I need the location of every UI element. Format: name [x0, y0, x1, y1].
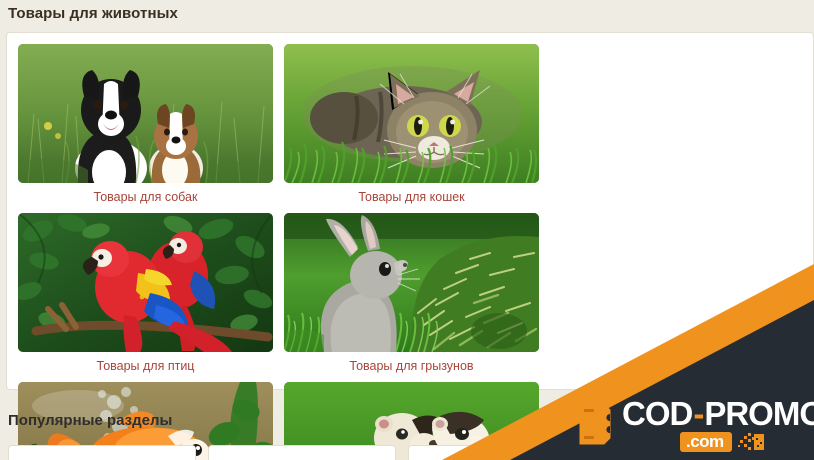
popular-card-3[interactable]	[408, 445, 596, 460]
page-title: Товары для животных	[8, 5, 178, 22]
tile-birds[interactable]: Товары для птиц	[18, 213, 284, 373]
dogs-photo	[18, 44, 273, 183]
tile-label: Товары для кошек	[284, 190, 539, 204]
popular-card-1[interactable]	[8, 445, 196, 460]
animal-categories-panel: Товары для собак	[6, 32, 814, 390]
tile-rodents[interactable]: Товары для грызунов	[284, 213, 550, 373]
tile-label: Товары для птиц	[18, 359, 273, 373]
cat-photo	[284, 44, 539, 183]
popular-sections-title: Популярные разделы	[8, 412, 172, 429]
parrots-photo	[18, 213, 273, 352]
tile-cats[interactable]: Товары для кошек	[284, 44, 550, 204]
tile-label: Товары для грызунов	[284, 359, 539, 373]
tile-dogs[interactable]: Товары для собак	[18, 44, 284, 204]
category-grid: Товары для собак	[18, 44, 808, 460]
rabbit-photo	[284, 213, 539, 352]
page-root: Товары для животных	[0, 0, 814, 460]
tile-label: Товары для собак	[18, 190, 273, 204]
popular-card-2[interactable]	[208, 445, 396, 460]
